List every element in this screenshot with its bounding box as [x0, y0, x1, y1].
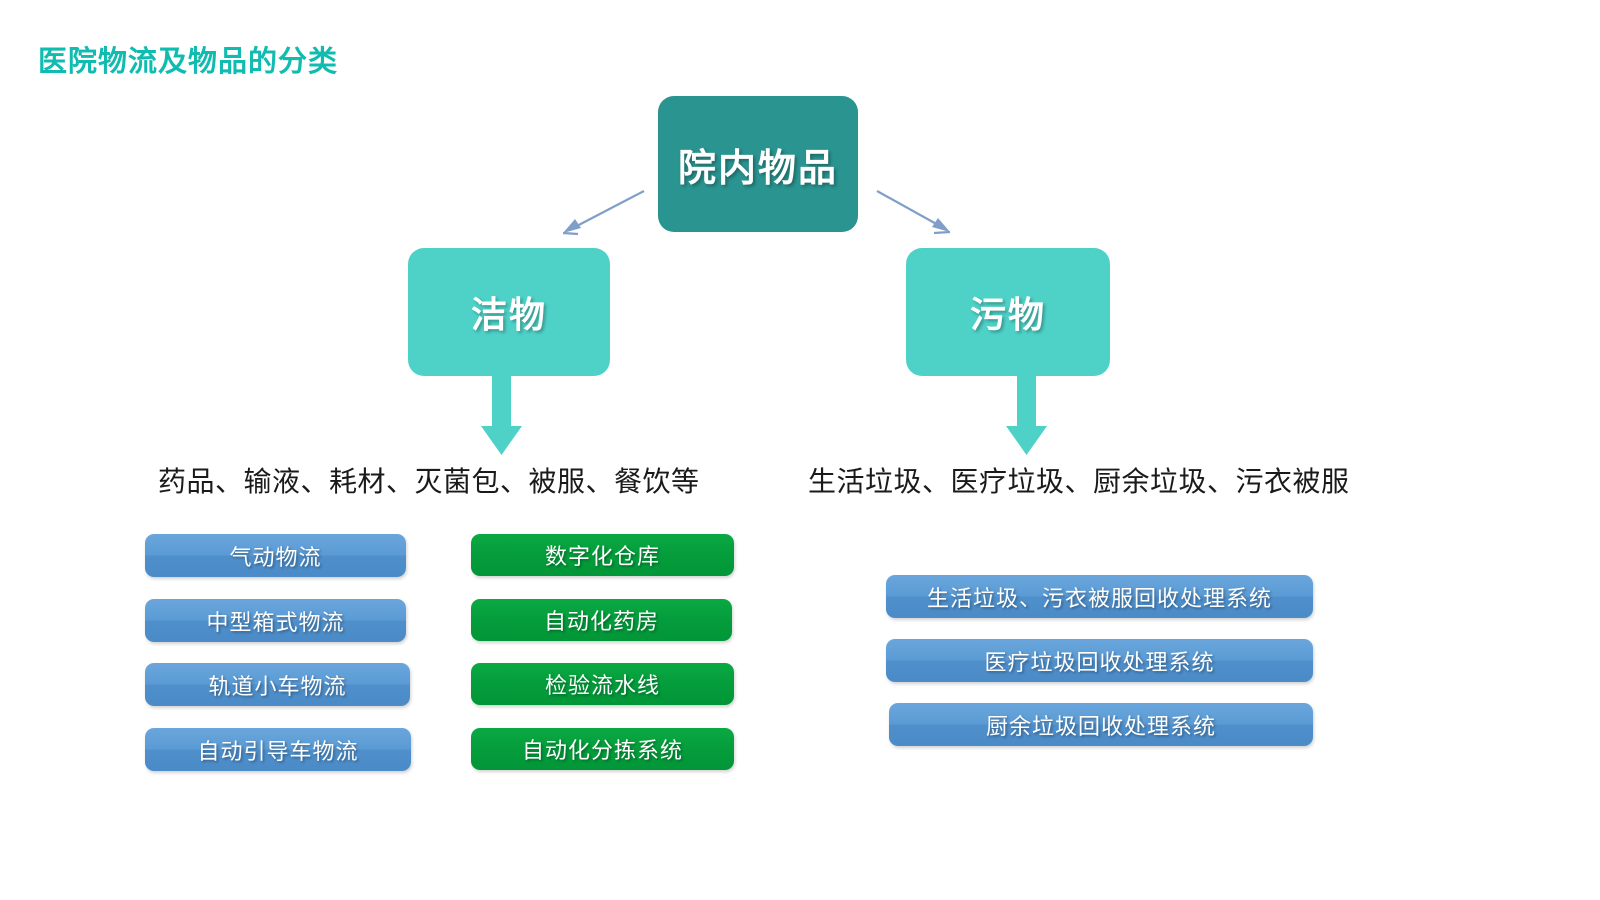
node-branch-clean-goods[interactable]: 洁物: [408, 248, 610, 376]
pill-domestic-waste-and-soiled-linen-recovery-system[interactable]: 生活垃圾、污衣被服回收处理系统: [886, 575, 1313, 618]
pill-pneumatic-logistics[interactable]: 气动物流: [145, 534, 406, 577]
node-root-hospital-goods[interactable]: 院内物品: [658, 96, 858, 232]
pill-digital-warehouse[interactable]: 数字化仓库: [471, 534, 734, 576]
pill-track-cart-logistics[interactable]: 轨道小车物流: [145, 663, 410, 706]
pill-kitchen-waste-recovery-system[interactable]: 厨余垃圾回收处理系统: [889, 703, 1313, 746]
pill-lab-assembly-line[interactable]: 检验流水线: [471, 663, 734, 705]
block-arrow-clean-down: [481, 376, 522, 455]
pill-automated-sorting-system[interactable]: 自动化分拣系统: [471, 728, 734, 770]
pill-medical-waste-recovery-system[interactable]: 医疗垃圾回收处理系统: [886, 639, 1313, 682]
slide-canvas: 医院物流及物品的分类 院内物品 洁物 污物 药品、输液、耗材、灭菌包、被服、: [0, 0, 1600, 900]
arrow-root-to-clean: [563, 191, 644, 234]
pill-agv-logistics[interactable]: 自动引导车物流: [145, 728, 411, 771]
node-branch-dirty-goods[interactable]: 污物: [906, 248, 1110, 376]
arrow-root-to-dirty: [877, 191, 950, 233]
pill-automated-pharmacy[interactable]: 自动化药房: [471, 599, 732, 641]
pill-medium-box-logistics[interactable]: 中型箱式物流: [145, 599, 406, 642]
block-arrow-dirty-down: [1006, 376, 1047, 455]
caption-clean-goods: 药品、输液、耗材、灭菌包、被服、餐饮等: [158, 460, 700, 500]
page-title: 医院物流及物品的分类: [38, 38, 338, 80]
caption-dirty-goods: 生活垃圾、医疗垃圾、厨余垃圾、污衣被服: [808, 460, 1350, 500]
